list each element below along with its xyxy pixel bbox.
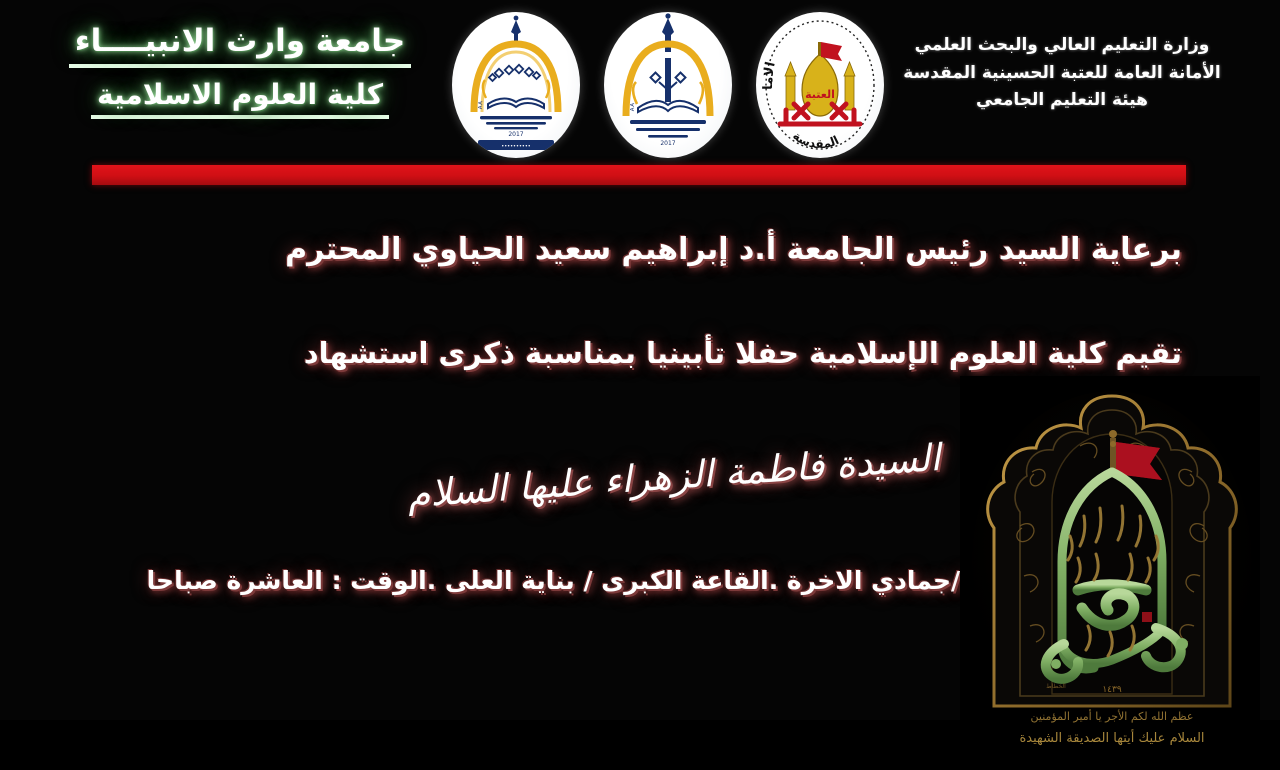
artwork-caption-1: عظم الله لكم الأجر يا أمير المؤمنين	[1031, 709, 1194, 723]
poster-header: جامعة وارث الانبيــــاء كلية العلوم الاس…	[0, 0, 1280, 160]
ministry-line-2: الأمانة العامة للعتبة الحسينية المقدسة	[892, 60, 1232, 88]
university-name: جامعة وارث الانبيــــاء	[69, 22, 411, 68]
university-college-seal-icon: UNIVERSITY OF WARITH AL-ANBIYAA	[452, 12, 580, 158]
svg-text:الامانة العامة: الامانة العامة	[756, 12, 779, 90]
svg-text:UNIVERSITY OF WARITH AL-ANBIYA: UNIVERSITY OF WARITH AL-ANBIYAA	[604, 12, 636, 111]
header-divider-bar	[92, 165, 1186, 185]
logo-holy-shrine-seal: الامانة العامة المقدسة	[756, 12, 884, 158]
poster-canvas: جامعة وارث الانبيــــاء كلية العلوم الاس…	[0, 0, 1280, 720]
logo-row: UNIVERSITY OF WARITH AL-ANBIYAA	[452, 12, 884, 158]
svg-text:UNIVERSITY OF WARITH AL-ANBIYA: UNIVERSITY OF WARITH AL-ANBIYAA	[452, 12, 484, 109]
logo-university-college-seal: UNIVERSITY OF WARITH AL-ANBIYAA	[452, 12, 580, 158]
logo-oval-backdrop: UNIVERSITY OF WARITH AL-ANBIYAA	[452, 12, 580, 158]
hijri-year-label: ١٤٣٩	[1102, 685, 1122, 695]
svg-text:الخطاط: الخطاط	[1046, 683, 1066, 690]
university-title-block: جامعة وارث الانبيــــاء كلية العلوم الاس…	[40, 22, 440, 119]
event-announcement-line: تقيم كلية العلوم الإسلامية حفلا تأبينيا …	[304, 336, 1182, 370]
fatima-calligraphy-icon: ١٤٣٩ الخطاط عظم الله لكم الأجر يا أمير ا…	[960, 376, 1260, 766]
svg-text:2017: 2017	[660, 140, 675, 147]
poster-body: برعاية السيد رئيس الجامعة أ.د إبراهيم سع…	[0, 196, 1280, 720]
fatima-calligraphy-artwork: ١٤٣٩ الخطاط عظم الله لكم الأجر يا أمير ا…	[960, 376, 1260, 766]
svg-text:المقدسة: المقدسة	[790, 129, 841, 152]
artwork-caption-2: السلام عليك أيتها الصديقة الشهيدة	[1019, 729, 1204, 746]
university-seal-icon: UNIVERSITY OF WARITH AL-ANBIYAA	[604, 12, 732, 158]
logo-oval-backdrop: UNIVERSITY OF WARITH AL-ANBIYAA	[604, 12, 732, 158]
honoree-name-line: السيدة فاطمة الزهراء عليها السلام	[406, 436, 942, 516]
svg-text:••••••••••: ••••••••••	[501, 144, 531, 150]
svg-text:العتبة: العتبة	[805, 88, 835, 101]
logo-oval-backdrop: الامانة العامة المقدسة	[756, 12, 884, 158]
ministry-line-3: هيئة التعليم الجامعي	[892, 87, 1232, 115]
college-name: كلية العلوم الاسلامية	[91, 77, 389, 119]
ministry-line-1: وزارة التعليم العالي والبحث العلمي	[892, 32, 1232, 60]
patronage-line: برعاية السيد رئيس الجامعة أ.د إبراهيم سع…	[285, 232, 1182, 267]
ministry-affiliation-block: وزارة التعليم العالي والبحث العلمي الأما…	[892, 32, 1232, 115]
svg-text:2017: 2017	[508, 131, 523, 138]
logo-university-seal: UNIVERSITY OF WARITH AL-ANBIYAA	[604, 12, 732, 158]
holy-shrine-seal-icon: الامانة العامة المقدسة	[756, 12, 884, 158]
